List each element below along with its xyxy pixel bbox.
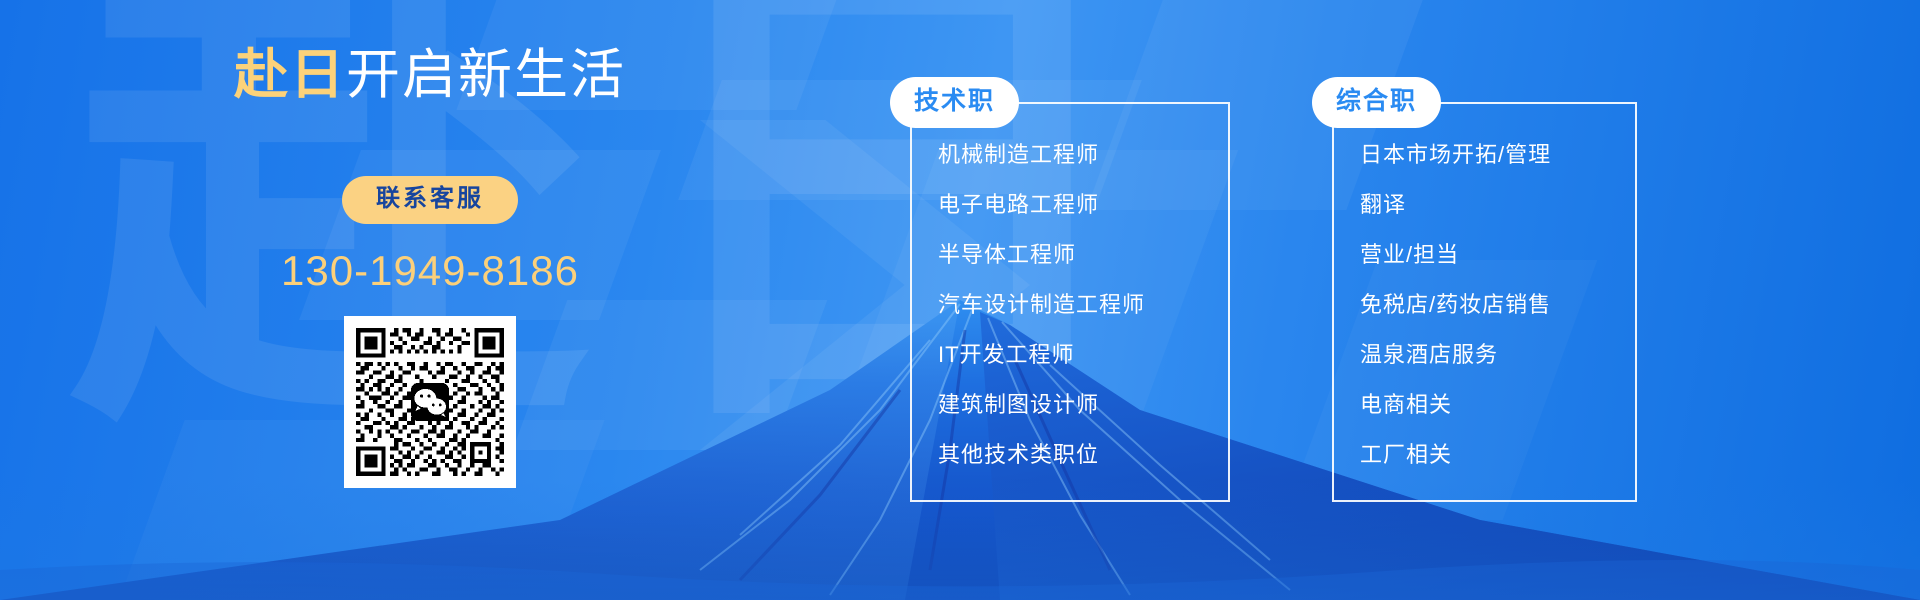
list-item[interactable]: IT开发工程师 xyxy=(938,344,1228,366)
job-panel-general: 综合职 日本市场开拓/管理 翻译 营业/担当 免税店/药妆店销售 温泉酒店服务 … xyxy=(1332,102,1637,502)
headline-highlight: 赴日 xyxy=(234,48,346,102)
job-panel-technical: 技术职 机械制造工程师 电子电路工程师 半导体工程师 汽车设计制造工程师 IT开… xyxy=(910,102,1230,502)
list-item[interactable]: 温泉酒店服务 xyxy=(1360,344,1635,366)
recruitment-banner: 赴日 xyxy=(0,0,1920,600)
list-item[interactable]: 电子电路工程师 xyxy=(938,194,1228,216)
list-item[interactable]: 建筑制图设计师 xyxy=(938,394,1228,416)
list-item[interactable]: 汽车设计制造工程师 xyxy=(938,294,1228,316)
list-item[interactable]: 半导体工程师 xyxy=(938,244,1228,266)
headline-rest: 开启新生活 xyxy=(346,48,626,102)
contact-support-button[interactable]: 联系客服 xyxy=(342,176,518,224)
phone-number[interactable]: 130-1949-8186 xyxy=(281,250,579,292)
panel-badge-technical: 技术职 xyxy=(890,77,1019,128)
list-item[interactable]: 翻译 xyxy=(1360,194,1635,216)
list-item[interactable]: 机械制造工程师 xyxy=(938,144,1228,166)
wechat-qr-code[interactable] xyxy=(344,316,516,488)
list-item[interactable]: 工厂相关 xyxy=(1360,444,1635,466)
list-item[interactable]: 日本市场开拓/管理 xyxy=(1360,144,1635,166)
list-item[interactable]: 免税店/药妆店销售 xyxy=(1360,294,1635,316)
list-item[interactable]: 电商相关 xyxy=(1360,394,1635,416)
qr-code-image xyxy=(352,324,508,480)
job-list-general: 日本市场开拓/管理 翻译 营业/担当 免税店/药妆店销售 温泉酒店服务 电商相关… xyxy=(1334,104,1635,466)
wechat-icon xyxy=(411,383,449,421)
list-item[interactable]: 营业/担当 xyxy=(1360,244,1635,266)
job-list-technical: 机械制造工程师 电子电路工程师 半导体工程师 汽车设计制造工程师 IT开发工程师… xyxy=(912,104,1228,466)
page-title: 赴日 开启新生活 xyxy=(234,48,626,102)
promo-column: 赴日 开启新生活 联系客服 130-1949-8186 xyxy=(0,0,860,600)
list-item[interactable]: 其他技术类职位 xyxy=(938,444,1228,466)
panel-badge-general: 综合职 xyxy=(1312,77,1441,128)
